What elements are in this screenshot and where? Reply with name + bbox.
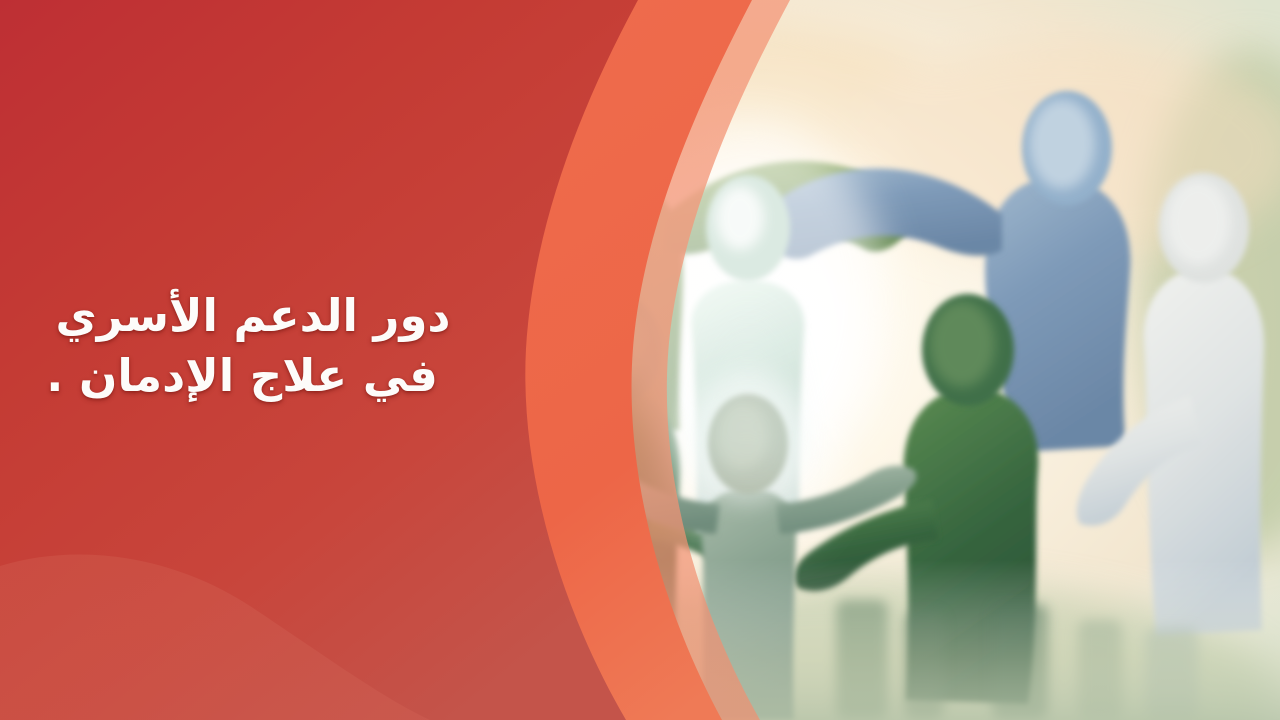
social-card: دور الدعم الأسري في علاج الإدمان .	[0, 0, 1280, 720]
red-accent-blob	[0, 554, 430, 720]
headline-line-2: في علاج الإدمان .	[0, 346, 520, 406]
headline-line-1: دور الدعم الأسري	[0, 286, 520, 346]
watercolor-family-illustration	[430, 0, 1280, 720]
ground-fade	[430, 560, 1280, 720]
illustration-panel	[430, 0, 1280, 720]
page-title: دور الدعم الأسري في علاج الإدمان .	[0, 286, 520, 406]
